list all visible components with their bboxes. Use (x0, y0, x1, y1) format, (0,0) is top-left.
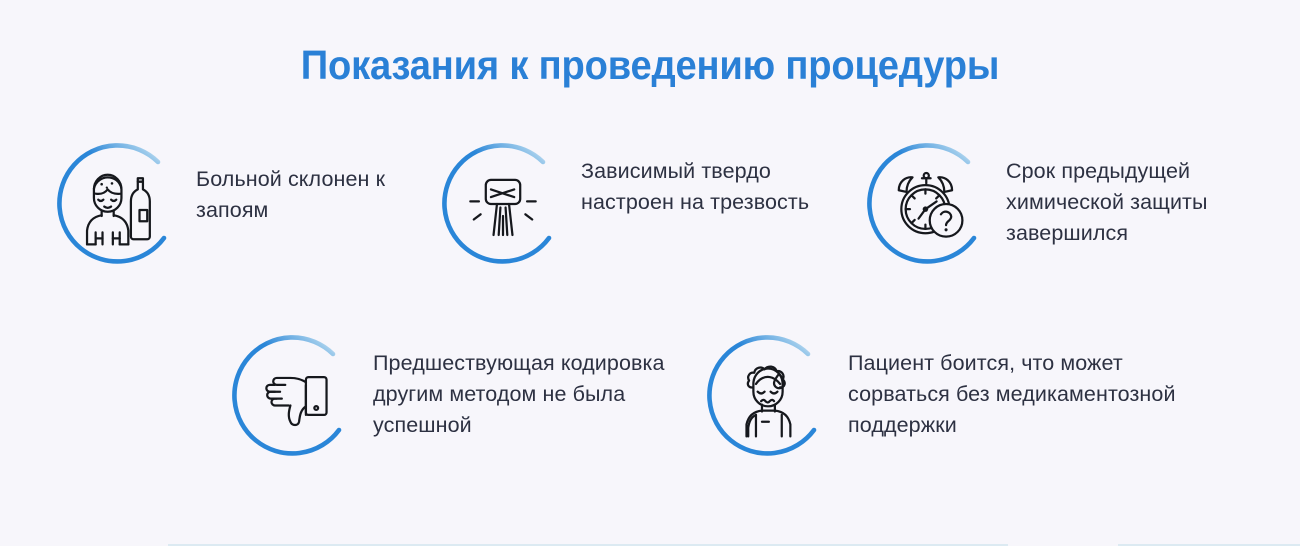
icon-badge-fear-of-relapse (702, 330, 834, 462)
indication-label: Зависимый твердо настроен на трезвость (581, 138, 837, 218)
worried-patient-icon (725, 353, 811, 439)
page-title: Показания к проведению процедуры (46, 44, 1255, 87)
indication-item-drinking-bouts: Больной склонен к запоям (52, 138, 442, 270)
indication-item-fear-of-relapse: Пациент боится, что может сорваться без … (702, 330, 1222, 462)
infographic-page: Показания к проведению процедуры (0, 0, 1300, 546)
indication-label: Срок предыдущей химической защиты заверш… (1006, 138, 1282, 249)
icon-badge-drinking-bouts (52, 138, 184, 270)
icon-badge-firm-sobriety (437, 138, 569, 270)
indication-item-firm-sobriety: Зависимый твердо настроен на трезвость (437, 138, 837, 270)
man-with-bottle-icon (75, 161, 161, 247)
indication-label: Предшествующая кодировка другим методом … (373, 330, 697, 441)
indication-item-previous-coding-failed: Предшествующая кодировка другим методом … (227, 330, 697, 462)
determined-person-icon (460, 161, 546, 247)
alarm-clock-question-icon (885, 161, 971, 247)
thumbs-down-icon (250, 353, 336, 439)
indication-label: Пациент боится, что может сорваться без … (848, 330, 1222, 441)
indication-item-previous-protection-expired: Срок предыдущей химической защиты заверш… (862, 138, 1282, 270)
icon-badge-previous-protection-expired (862, 138, 994, 270)
indication-label: Больной склонен к запоям (196, 138, 442, 226)
icon-badge-previous-coding-failed (227, 330, 359, 462)
